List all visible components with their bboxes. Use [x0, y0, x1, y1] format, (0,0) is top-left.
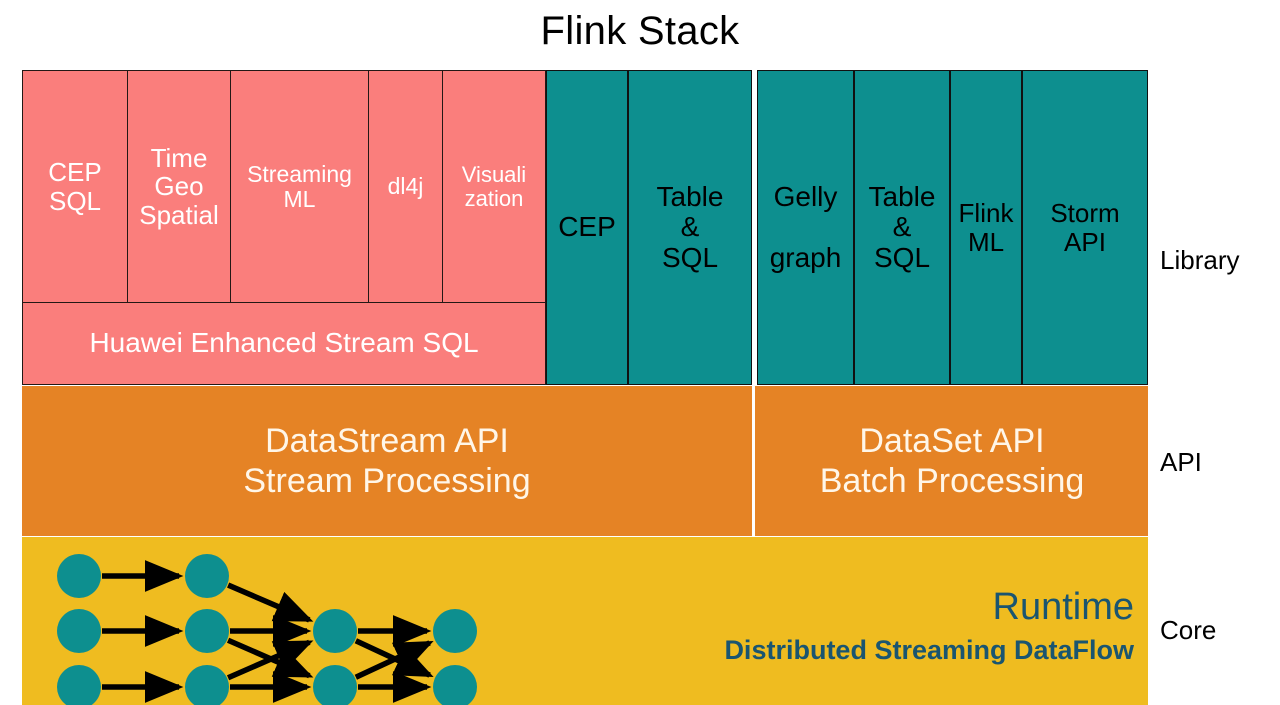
library-box-label: Storm API — [1048, 199, 1121, 255]
library-box-gelly-graph[interactable]: Gelly graph — [757, 70, 854, 385]
page-title: Flink Stack — [0, 9, 1280, 54]
api-block-dataset[interactable]: DataSet API Batch Processing — [756, 386, 1148, 536]
library-box-label: Gelly graph — [768, 182, 844, 273]
library-box-label: Visuali zation — [460, 163, 528, 211]
library-box-storm-api[interactable]: Storm API — [1022, 70, 1148, 385]
dataflow-node — [57, 665, 101, 705]
library-box-label: Huawei Enhanced Stream SQL — [87, 328, 480, 358]
library-box-huawei-enhanced-stream-sql[interactable]: Huawei Enhanced Stream SQL — [22, 302, 546, 385]
dataflow-node — [57, 609, 101, 653]
library-box-cep-sql[interactable]: CEP SQL — [22, 70, 128, 303]
layer-label-api: API — [1160, 447, 1202, 478]
library-box-visualization[interactable]: Visuali zation — [442, 70, 546, 303]
dataflow-node — [185, 665, 229, 705]
dataflow-node — [185, 609, 229, 653]
library-box-label: Time Geo Spatial — [137, 144, 221, 228]
library-box-time-geo-spatial[interactable]: Time Geo Spatial — [127, 70, 231, 303]
api-block-datastream[interactable]: DataStream API Stream Processing — [22, 386, 752, 536]
library-box-flink-ml[interactable]: Flink ML — [950, 70, 1022, 385]
runtime-title: Runtime — [993, 586, 1135, 629]
dataflow-node — [57, 554, 101, 598]
library-box-label: CEP SQL — [46, 158, 103, 214]
layer-label-core: Core — [1160, 615, 1216, 646]
dataflow-node — [185, 554, 229, 598]
flink-stack-diagram: { "title": "Flink Stack", "colors": { "p… — [0, 0, 1280, 705]
library-box-table-sql-stream[interactable]: Table & SQL — [628, 70, 752, 385]
library-box-label: Flink ML — [957, 199, 1016, 255]
library-box-cep[interactable]: CEP — [546, 70, 628, 385]
library-box-label: Table & SQL — [655, 182, 726, 273]
api-block-label: DataSet API Batch Processing — [820, 421, 1085, 501]
api-block-label: DataStream API Stream Processing — [243, 421, 530, 501]
library-box-table-sql-batch[interactable]: Table & SQL — [854, 70, 950, 385]
dataflow-node — [433, 665, 477, 705]
library-box-label: CEP — [556, 212, 618, 242]
core-layer: Runtime Distributed Streaming DataFlow — [22, 537, 1148, 705]
dataflow-node — [313, 609, 357, 653]
library-box-label: Table & SQL — [867, 182, 938, 273]
dataflow-node — [313, 665, 357, 705]
library-box-dl4j[interactable]: dl4j — [368, 70, 443, 303]
library-box-label: Streaming ML — [245, 162, 354, 212]
dataflow-node — [433, 609, 477, 653]
dataflow-edge — [228, 585, 309, 620]
runtime-subtitle: Distributed Streaming DataFlow — [724, 635, 1134, 666]
library-box-streaming-ml[interactable]: Streaming ML — [230, 70, 369, 303]
api-layer-divider — [752, 386, 755, 536]
layer-label-library: Library — [1160, 245, 1239, 276]
library-box-label: dl4j — [386, 174, 426, 199]
dataflow-graph — [22, 537, 542, 705]
